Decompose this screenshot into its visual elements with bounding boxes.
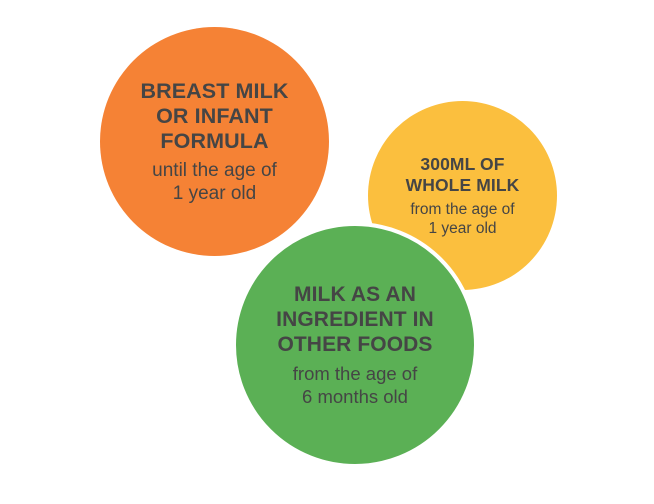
bubble-milk-ingredient-heading-line-1: MILK AS AN [276, 282, 434, 307]
bubble-breast-milk-subtitle: until the age of 1 year old [152, 159, 277, 205]
bubble-whole-milk-subtitle-line-2: 1 year old [410, 219, 514, 238]
bubble-whole-milk-heading: 300ml OF WHOLE MILK [406, 154, 520, 196]
bubble-breast-milk-subtitle-line-2: 1 year old [152, 182, 277, 205]
milk-guidance-infographic: BREAST MILK OR INFANT FORMULA until the … [0, 0, 654, 504]
bubble-breast-milk-heading-line-1: BREAST MILK [140, 79, 288, 104]
bubble-milk-ingredient-heading: MILK AS AN INGREDIENT IN OTHER FOODS [276, 282, 434, 357]
bubble-whole-milk-heading-line-1: 300ml OF [406, 154, 520, 175]
bubble-whole-milk-subtitle: from the age of 1 year old [410, 200, 514, 238]
bubble-breast-milk-heading-line-2: OR INFANT [140, 104, 288, 129]
bubble-milk-ingredient: MILK AS AN INGREDIENT IN OTHER FOODS fro… [232, 222, 478, 468]
bubble-milk-ingredient-subtitle: from the age of 6 months old [293, 362, 417, 408]
bubble-milk-ingredient-subtitle-line-1: from the age of [293, 362, 417, 385]
bubble-breast-milk: BREAST MILK OR INFANT FORMULA until the … [100, 27, 329, 256]
bubble-whole-milk-subtitle-line-1: from the age of [410, 200, 514, 219]
bubble-milk-ingredient-heading-line-3: OTHER FOODS [276, 332, 434, 357]
bubble-whole-milk-heading-line-2: WHOLE MILK [406, 175, 520, 196]
bubble-milk-ingredient-subtitle-line-2: 6 months old [293, 385, 417, 408]
bubble-breast-milk-heading-line-3: FORMULA [140, 129, 288, 154]
bubble-milk-ingredient-heading-line-2: INGREDIENT IN [276, 307, 434, 332]
bubble-breast-milk-subtitle-line-1: until the age of [152, 159, 277, 182]
bubble-breast-milk-heading: BREAST MILK OR INFANT FORMULA [140, 79, 288, 154]
